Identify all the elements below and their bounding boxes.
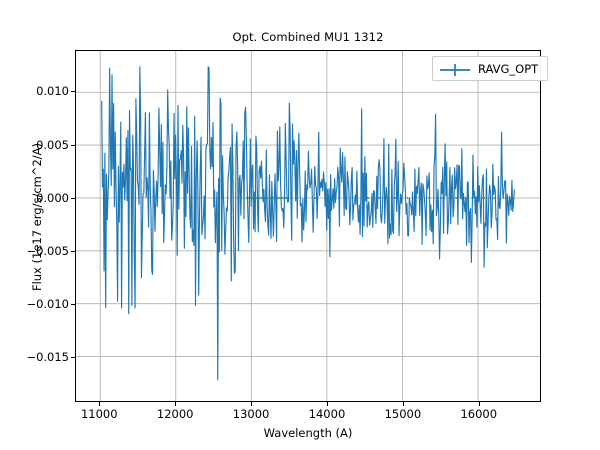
y-tick-label: −0.015 — [9, 350, 69, 364]
x-axis-tick-labels: 110001200013000140001500016000 — [0, 407, 600, 427]
plot-svg — [76, 51, 540, 401]
y-tickmark — [71, 304, 75, 305]
x-tick-label: 16000 — [439, 407, 519, 421]
y-axis-label: Flux (1e17 erg/s/cm^2/A) — [30, 87, 44, 347]
plot-area[interactable] — [75, 50, 541, 402]
x-tickmark — [479, 402, 480, 406]
legend-box[interactable]: RAVG_OPT — [432, 56, 548, 81]
y-tickmark — [71, 145, 75, 146]
figure-canvas: Opt. Combined MU1 1312 −0.015−0.010−0.00… — [0, 0, 600, 450]
series-ravg-opt — [102, 67, 515, 380]
legend-entry-label: RAVG_OPT — [478, 62, 538, 76]
y-tickmark — [71, 91, 75, 92]
x-tickmark — [403, 402, 404, 406]
y-tickmark — [71, 198, 75, 199]
x-tick-label: 12000 — [135, 407, 215, 421]
x-tickmark — [251, 402, 252, 406]
x-axis-label: Wavelength (A) — [75, 426, 541, 440]
x-tick-label: 14000 — [287, 407, 367, 421]
y-tickmark — [71, 251, 75, 252]
chart-title: Opt. Combined MU1 1312 — [75, 30, 541, 44]
y-tickmark — [71, 357, 75, 358]
x-tick-label: 15000 — [363, 407, 443, 421]
x-tick-label: 11000 — [59, 407, 139, 421]
x-tickmark — [99, 402, 100, 406]
legend-errorbar-icon — [440, 62, 470, 76]
x-tickmark — [327, 402, 328, 406]
x-tickmark — [175, 402, 176, 406]
x-tick-label: 13000 — [211, 407, 291, 421]
